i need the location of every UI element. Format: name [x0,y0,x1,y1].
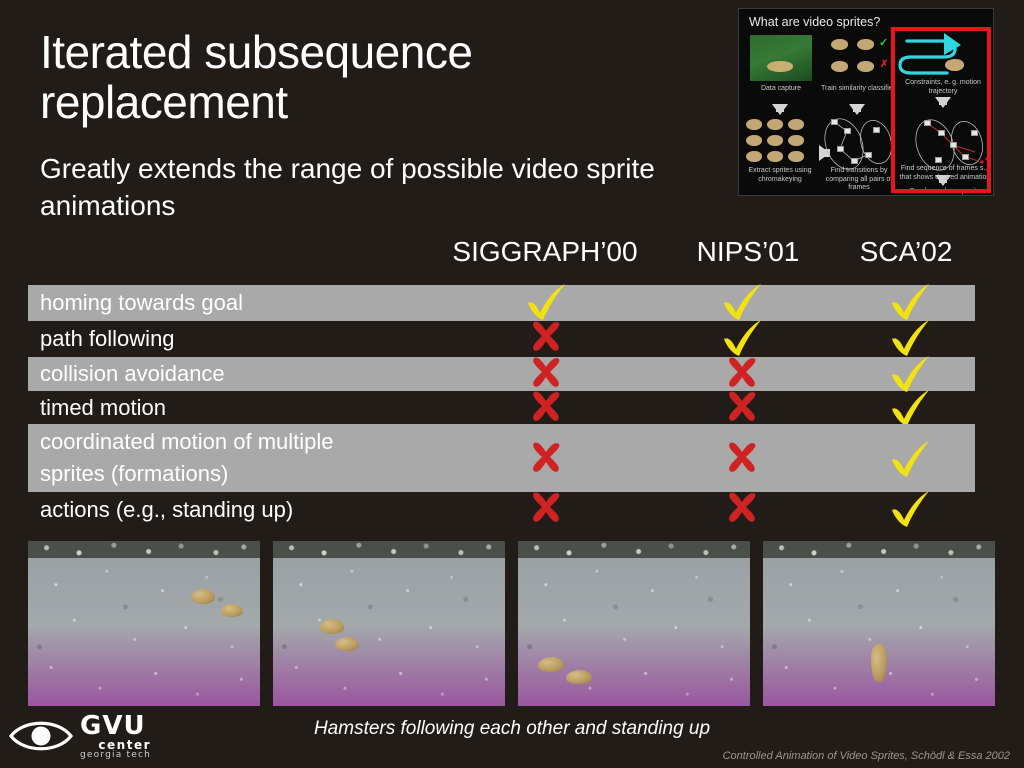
row-label: collision avoidance [40,358,225,390]
video-frame-3[interactable] [518,541,750,706]
asphalt-ground [763,558,995,706]
table-row: actions (e.g., standing up) [28,492,975,528]
asphalt-ground [273,558,505,706]
gravel-band [763,541,995,558]
table-row: timed motion [28,391,975,424]
hamster-sprite-lying [191,589,215,604]
row-label: actions (e.g., standing up) [40,494,293,526]
gravel-band [518,541,750,558]
asphalt-ground [518,558,750,706]
column-header-nips: NIPS’01 [672,236,824,268]
cell-cross-icon [516,319,576,353]
table-row: path following [28,321,975,357]
cell-check-icon [880,490,940,530]
row-label: timed motion [40,392,166,424]
video-sprites-overview-thumbnail[interactable]: What are video sprites? Data capture ✓ ✗… [738,8,994,196]
photo-strip [28,541,995,706]
cell-check-icon [712,283,772,323]
page-subtitle: Greatly extends the range of possible vi… [40,150,680,224]
cell-check-icon [880,440,940,480]
capability-table: homing towards goalpath followingcollisi… [28,285,975,528]
row-label: coordinated motion of multiple sprites (… [40,426,334,490]
cell-check-icon [880,319,940,359]
video-frame-2[interactable] [273,541,505,706]
gravel-band [273,541,505,558]
hamster-sprite-lying [566,670,592,684]
cell-check-icon [516,283,576,323]
cell-cross-icon [516,440,576,474]
gravel-band [28,541,260,558]
cell-cross-icon [712,389,772,423]
column-header-sca: SCA’02 [840,236,972,268]
cell-cross-icon [516,389,576,423]
eye-icon [8,715,74,757]
cell-cross-icon [712,490,772,524]
video-frame-1[interactable] [28,541,260,706]
page-title: Iterated subsequence replacement [40,27,700,127]
cell-cross-icon [712,355,772,389]
video-frame-4[interactable] [763,541,995,706]
hamster-sprite-standing [871,644,887,682]
table-row: collision avoidance [28,357,975,391]
column-header-siggraph: SIGGRAPH’00 [430,236,660,268]
row-label: homing towards goal [40,287,243,319]
cell-check-icon [880,389,940,429]
hamster-sprite-lying [221,604,243,617]
cell-cross-icon [516,490,576,524]
cell-check-icon [712,319,772,359]
row-label: path following [40,323,175,355]
cell-cross-icon [712,440,772,474]
table-row: coordinated motion of multiple sprites (… [28,424,975,492]
logo-name: GVU [80,713,151,739]
gvu-logo: GVU center georgia tech [8,710,188,762]
asphalt-ground [28,558,260,706]
hamster-sprite-lying [320,619,344,634]
cell-cross-icon [516,355,576,389]
presentation-slide: Iterated subsequence replacement Greatly… [0,0,1024,768]
hamster-sprite-lying [335,637,359,651]
cell-check-icon [880,283,940,323]
highlight-box [891,27,991,193]
hamster-sprite-lying [538,657,564,672]
logo-org: georgia tech [80,751,151,760]
table-row: homing towards goal [28,285,975,321]
attribution-footer: Controlled Animation of Video Sprites, S… [723,750,1010,762]
